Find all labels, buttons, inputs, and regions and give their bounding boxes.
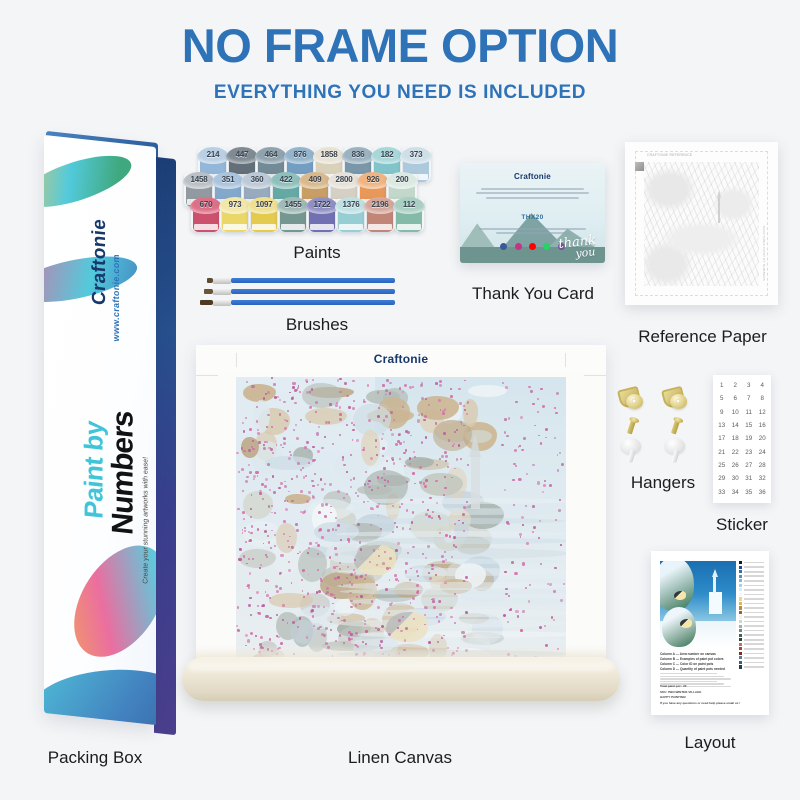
facebook-icon [500, 243, 507, 250]
paint-number-dot [295, 523, 298, 526]
legend-label [744, 630, 764, 632]
paint-number-dot [555, 412, 557, 414]
sticker-number: 27 [742, 459, 756, 472]
paint-number-dot [339, 413, 342, 416]
paint-number-dot [465, 611, 468, 614]
paint-number-dot [376, 584, 378, 586]
paint-number-dot [445, 460, 447, 462]
paint-number-dot [398, 619, 401, 622]
paint-number-dot [357, 495, 359, 497]
sticker-number: 6 [729, 392, 743, 405]
sticker-number: 4 [756, 379, 770, 392]
sticker-number: 35 [742, 486, 756, 499]
paint-number-dot [533, 526, 536, 529]
paint-number-dot [343, 642, 345, 644]
product-name-line2: Numbers [108, 371, 140, 574]
card-signature: thank you [558, 236, 598, 261]
legend-row [739, 606, 764, 609]
paint-number-dot [289, 451, 291, 453]
paint-pot: 1455 [278, 198, 308, 232]
paint-number-dot [312, 379, 314, 381]
paint-number-dot [271, 512, 273, 514]
paint-number-dot [259, 492, 262, 495]
paint-number-dot [294, 402, 297, 405]
youtube-icon [529, 243, 536, 250]
legend-row [739, 638, 764, 641]
layout-footer: Total paint pot : 23 SKU: PBN-WINTER-VIL… [660, 684, 757, 706]
paint-number-dot [284, 500, 286, 502]
paint-pots-group: 2144474648761858836182373145835136042240… [198, 148, 434, 232]
paint-number-dot [389, 579, 391, 581]
paint-number-dot [458, 388, 460, 390]
paint-number-dot [248, 558, 250, 560]
paint-number-dot [350, 606, 352, 608]
packing-box-side-panel [154, 157, 176, 735]
paint-number-dot [243, 430, 246, 433]
paint-number-dot [398, 434, 400, 436]
page-title: NO FRAME OPTION [0, 22, 800, 69]
paint-number-dot [257, 429, 259, 431]
paint-number-dot [416, 591, 419, 594]
paint-number-dot [248, 587, 250, 589]
paint-number-dot [250, 532, 253, 535]
paint-number-dot [383, 473, 385, 475]
paint-number-dot [368, 480, 370, 482]
paint-number-dot [275, 585, 278, 588]
paint-number-dot [560, 544, 562, 546]
sticker-number: 5 [715, 392, 729, 405]
paint-number-dot [263, 447, 266, 450]
paint-number-dot [526, 473, 528, 475]
paint-number-dot [255, 471, 258, 474]
legend-label [744, 589, 764, 591]
paint-number-dot [251, 385, 254, 388]
legend-row [739, 629, 764, 632]
paint-number-dot [351, 422, 353, 424]
paint-number-dot [324, 436, 326, 438]
paint-number-dot [242, 422, 244, 424]
paint-brush [195, 278, 395, 283]
paint-number-dot [288, 491, 290, 493]
paint-pot-number: 409 [300, 175, 330, 184]
paint-number-dot [352, 407, 355, 410]
legend-label [744, 653, 764, 655]
paint-number-dot [265, 615, 268, 618]
paint-number-dot [262, 498, 264, 500]
paint-number-dot [520, 416, 523, 419]
paint-number-dot [237, 629, 240, 632]
paint-pot-number: 351 [213, 175, 243, 184]
paint-number-dot [353, 569, 355, 571]
sticker-number: 29 [715, 472, 729, 485]
paint-number-dot [407, 552, 409, 554]
paint-number-dot [270, 547, 272, 549]
paint-number-dot [424, 415, 427, 418]
paint-number-dot [253, 478, 255, 480]
legend-row [739, 597, 764, 600]
paint-number-dot [558, 509, 561, 512]
legend-swatch [739, 570, 742, 573]
paint-number-dot [429, 577, 432, 580]
paint-pot-label [252, 224, 276, 230]
paint-number-dot [504, 418, 507, 421]
paint-number-dot [508, 595, 510, 597]
layout-tree-2 [662, 607, 696, 647]
paint-number-dot [301, 579, 303, 581]
brush-handle [231, 278, 395, 283]
paint-number-dot [265, 591, 267, 593]
paint-number-dot [304, 446, 307, 449]
artwork-band [348, 597, 566, 606]
paint-number-dot [267, 463, 270, 466]
d-ring-hanger-1 [619, 388, 645, 410]
paint-number-dot [429, 497, 432, 500]
brush-ferrule [213, 278, 231, 284]
paint-number-dot [532, 505, 535, 508]
legend-swatch [739, 611, 742, 614]
legend-swatch [739, 629, 742, 632]
paint-number-dot [339, 418, 342, 421]
canvas-tick-right [565, 353, 566, 367]
brush-handle [231, 300, 395, 305]
paint-number-dot [441, 455, 443, 457]
screw-1 [627, 420, 636, 435]
paint-number-dot [309, 421, 311, 423]
legend-swatch [739, 575, 742, 578]
paint-number-dot [377, 476, 379, 478]
paint-number-dot [383, 467, 386, 470]
legend-row [739, 656, 764, 659]
paint-number-dot [312, 446, 314, 448]
paint-number-dot [332, 603, 334, 605]
card-brand: Craftonie [460, 172, 605, 181]
paint-number-dot [311, 609, 314, 612]
legend-label [744, 657, 764, 659]
paint-number-dot [540, 563, 542, 565]
sticker-number: 34 [729, 486, 743, 499]
layout-bird-2 [680, 619, 692, 628]
sticker-number: 8 [756, 392, 770, 405]
legend-swatch [739, 588, 742, 591]
brush-tip [204, 289, 213, 294]
paint-number-dot [545, 428, 548, 431]
paint-number-dot [258, 441, 261, 444]
paint-number-dot [355, 576, 358, 579]
paint-number-dot [257, 612, 259, 614]
legend-label [744, 621, 764, 623]
paint-number-dot [310, 406, 312, 408]
paint-number-dot [321, 503, 324, 506]
paint-number-dot [435, 382, 438, 385]
paint-number-dot [332, 443, 334, 445]
paint-number-dot [340, 539, 342, 541]
paint-number-dot [432, 600, 435, 603]
paint-number-dot [454, 431, 456, 433]
paint-number-dot [271, 377, 273, 379]
paint-number-dot [522, 610, 525, 613]
paint-number-dot [257, 528, 259, 530]
paint-number-dot [271, 426, 273, 428]
paint-number-dot [526, 542, 529, 545]
paint-number-dot [279, 587, 282, 590]
paint-number-dot [279, 399, 281, 401]
sticker-number: 13 [715, 419, 729, 432]
paint-number-dot [314, 473, 316, 475]
paint-number-dot [539, 626, 542, 629]
legend-swatch [739, 602, 742, 605]
legend-row [739, 615, 764, 618]
legend-label [744, 603, 764, 605]
paint-number-dot [246, 476, 249, 479]
paint-pot-number: 447 [227, 150, 257, 159]
legend-swatch [739, 579, 742, 582]
paint-number-dot [347, 566, 349, 568]
screw-2 [671, 420, 680, 435]
brush-handle [231, 289, 395, 294]
paint-number-dot [296, 437, 299, 440]
paint-number-dot [249, 428, 252, 431]
paint-pot-number: 1376 [336, 200, 366, 209]
paint-number-dot [364, 623, 366, 625]
paint-number-dot [439, 532, 441, 534]
sticker-number: 28 [756, 459, 770, 472]
sticker-number: 23 [742, 446, 756, 459]
linen-canvas: Craftonie [196, 345, 606, 735]
paint-number-dot [329, 403, 331, 405]
legend-label [744, 585, 764, 587]
paint-number-dot [444, 487, 447, 490]
legend-label [744, 616, 764, 618]
paint-number-dot [363, 447, 365, 449]
wall-anchor-1 [621, 438, 647, 464]
paint-number-dot [308, 491, 310, 493]
paint-number-dot [346, 471, 348, 473]
legend-label [744, 562, 764, 564]
paint-number-dot [257, 475, 259, 477]
paint-number-dot [519, 445, 521, 447]
layout-body-line [660, 673, 717, 675]
paint-number-dot [463, 580, 465, 582]
paint-number-dot [242, 490, 244, 492]
paint-number-dot [428, 572, 430, 574]
sticker-number: 22 [729, 446, 743, 459]
paint-number-dot [442, 560, 445, 563]
legend-label [744, 594, 764, 596]
brush-tip [200, 300, 213, 305]
paint-number-dot [317, 484, 319, 486]
reference-paper-side-text: CRAFTONIE PAINT BY NUMBERS [762, 226, 766, 281]
paint-number-dot [300, 469, 302, 471]
paint-number-dot [241, 468, 244, 471]
paint-number-dot [291, 500, 294, 503]
paint-number-dot [404, 465, 406, 467]
paint-pot-number: 973 [220, 200, 250, 209]
legend-swatch [739, 597, 742, 600]
paint-pot-number: 422 [271, 175, 301, 184]
sticker-number: 10 [729, 406, 743, 419]
paint-number-dot [405, 562, 408, 565]
paint-number-dot [377, 606, 380, 609]
paint-number-dot [355, 492, 357, 494]
paint-pot-number: 214 [198, 150, 228, 159]
paint-number-dot [272, 452, 274, 454]
paint-pot-label [281, 224, 305, 230]
legend-row [739, 624, 764, 627]
paint-number-dot [439, 384, 441, 386]
legend-swatch [739, 620, 742, 623]
paint-number-dot [356, 596, 358, 598]
paint-number-dot [513, 504, 515, 506]
paint-number-dot [245, 541, 247, 543]
paint-number-dot [406, 509, 408, 511]
paint-number-dot [325, 627, 328, 630]
paint-number-dot [334, 577, 337, 580]
paint-number-dot [242, 511, 245, 514]
paint-number-dot [381, 438, 383, 440]
paint-number-dot [382, 384, 384, 386]
page-subtitle: EVERYTHING YOU NEED IS INCLUDED [0, 82, 800, 104]
paint-number-dot [416, 584, 419, 587]
reference-paper-header: CRAFTONIE REFERENCE [647, 153, 692, 157]
paint-number-dot [260, 564, 262, 566]
paint-pot-number: 182 [372, 150, 402, 159]
paint-number-dot [318, 590, 321, 593]
sticker-number: 18 [729, 432, 743, 445]
paint-number-dot [289, 392, 291, 394]
paint-number-dot [465, 576, 467, 578]
paint-number-dot [391, 433, 394, 436]
paint-number-dot [305, 379, 308, 382]
paint-number-dot [409, 463, 411, 465]
paint-number-dot [316, 591, 318, 593]
paint-number-dot [269, 489, 271, 491]
paint-number-dot [556, 392, 559, 395]
paint-number-dot [280, 554, 283, 557]
paint-number-dot [393, 419, 395, 421]
paint-number-dot [255, 635, 257, 637]
paint-number-dot [280, 444, 282, 446]
paint-number-dot [399, 458, 402, 461]
paint-number-dot [413, 618, 415, 620]
layout-body-line [660, 676, 724, 678]
paint-number-dot [456, 458, 458, 460]
paint-number-dot [266, 556, 268, 558]
paint-number-dot [350, 479, 353, 482]
legend-swatch [739, 656, 742, 659]
paint-number-dot [238, 471, 240, 473]
paint-number-dot [238, 558, 241, 561]
artwork-region [269, 593, 313, 607]
paint-number-dot [363, 401, 366, 404]
paint-pot-label [310, 224, 334, 230]
canvas-header-band: Craftonie [196, 345, 606, 373]
paint-number-dot [263, 444, 265, 446]
paint-number-dot [403, 441, 405, 443]
paints-caption: Paints [228, 243, 406, 263]
paint-number-dot [505, 588, 508, 591]
paint-number-dot [515, 572, 518, 575]
legend-row [739, 602, 764, 605]
paint-number-dot [532, 403, 535, 406]
sticker-number: 21 [715, 446, 729, 459]
paint-number-dot [318, 529, 321, 532]
sticker-number: 26 [729, 459, 743, 472]
paint-number-dot [304, 510, 307, 513]
paint-number-dot [432, 598, 434, 600]
layout-tree-1 [660, 561, 694, 611]
paint-number-dot [377, 628, 380, 631]
legend-label [744, 662, 764, 664]
paint-number-dot [390, 411, 393, 414]
sticker-number: 19 [742, 432, 756, 445]
legend-row [739, 620, 764, 623]
paint-number-dot [342, 456, 345, 459]
paint-number-dot [442, 410, 444, 412]
paint-number-dot [386, 460, 388, 462]
paint-number-dot [302, 467, 304, 469]
layout-caption: Layout [660, 733, 760, 753]
paint-number-dot [286, 420, 288, 422]
paint-number-dot [510, 608, 513, 611]
paint-number-dot [335, 553, 337, 555]
layout-body-line [660, 681, 717, 683]
card-message [474, 185, 591, 201]
paint-number-dot [339, 562, 341, 564]
paint-number-dot [264, 485, 267, 488]
paint-number-dot [399, 506, 401, 508]
paint-number-dot [401, 503, 403, 505]
layout-color-legend [739, 561, 764, 670]
paint-number-dot [324, 515, 327, 518]
paint-brush [195, 289, 395, 294]
paint-number-dot [365, 471, 368, 474]
artwork-band [336, 619, 566, 628]
legend-swatch [739, 634, 742, 637]
paint-number-dot [311, 480, 314, 483]
paint-number-dot [316, 432, 319, 435]
paint-number-dot [380, 528, 382, 530]
paint-number-dot [459, 402, 462, 405]
paint-number-dot [274, 396, 277, 399]
paint-number-dot [463, 530, 465, 532]
legend-swatch [739, 643, 742, 646]
paint-pot: 670 [191, 198, 221, 232]
legend-label [744, 666, 764, 668]
legend-row [739, 566, 764, 569]
paint-pot-number: 200 [387, 175, 417, 184]
paint-pot-number: 464 [256, 150, 286, 159]
paint-number-dot [376, 454, 378, 456]
packing-box-caption: Packing Box [0, 748, 190, 768]
paint-number-dot [389, 567, 391, 569]
paint-number-dot [272, 475, 275, 478]
paint-number-dot [427, 545, 430, 548]
paint-number-dot [239, 548, 241, 550]
canvas-brand: Craftonie [196, 352, 606, 366]
paint-number-dot [317, 450, 320, 453]
paint-number-dot [381, 625, 384, 628]
paint-number-dot [417, 575, 419, 577]
paint-number-dot [504, 431, 507, 434]
paint-number-dot [557, 454, 559, 456]
paint-number-dot [284, 419, 286, 421]
brushes-caption: Brushes [232, 315, 402, 335]
paint-pot-label [397, 224, 421, 230]
paint-brush [195, 300, 395, 305]
paint-number-dot [274, 534, 276, 536]
paint-number-dot [297, 626, 299, 628]
paint-number-dot [276, 614, 278, 616]
